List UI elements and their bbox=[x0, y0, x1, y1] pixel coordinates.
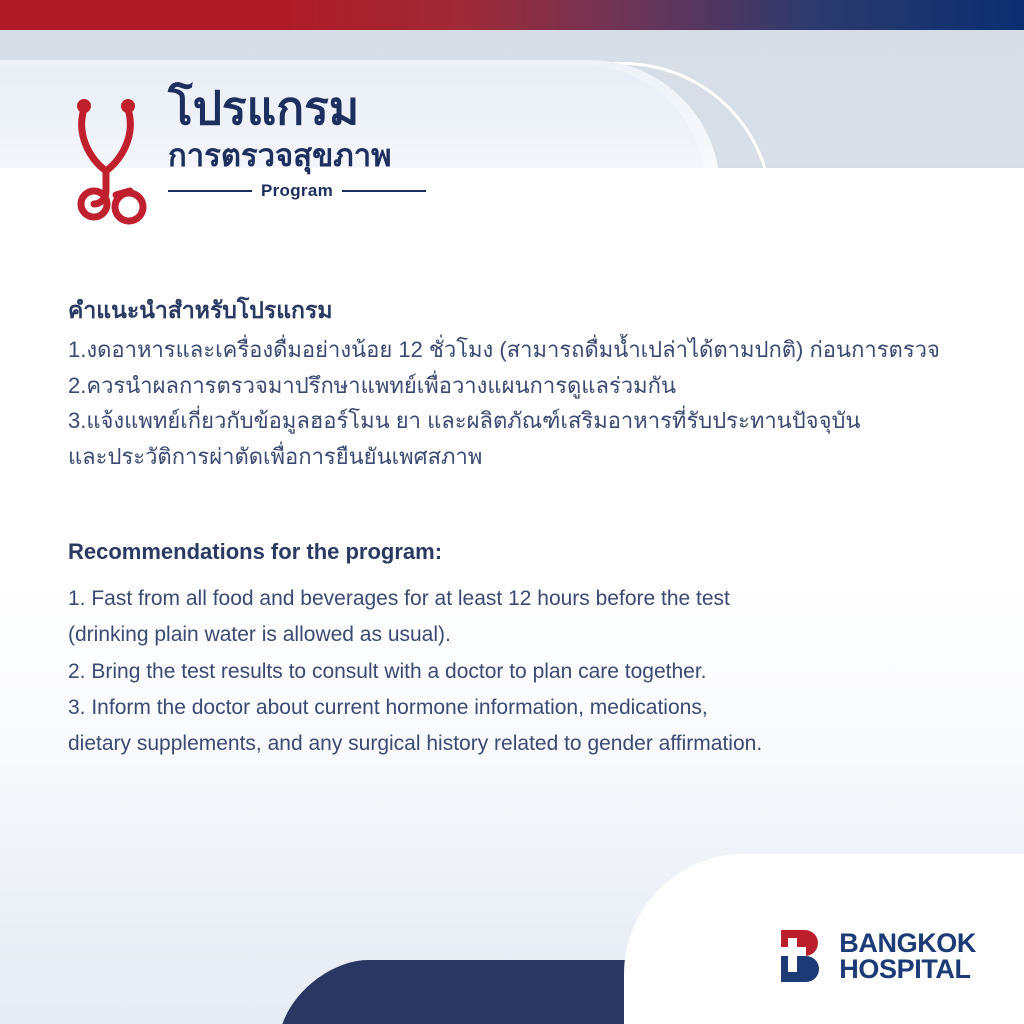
thai-line-4: และประวัติการผ่าตัดเพื่อการยืนยันเพศสภาพ bbox=[68, 439, 968, 475]
english-line-5: dietary supplements, and any surgical hi… bbox=[68, 726, 968, 762]
logo-program-row: Program bbox=[168, 181, 426, 201]
logo-rule-right bbox=[342, 190, 426, 192]
thai-line-1: 1.งดอาหารและเครื่องดื่มอย่างน้อย 12 ชั่ว… bbox=[68, 332, 968, 368]
thai-line-3: 3.แจ้งแพทย์เกี่ยวกับข้อมูลฮอร์โมน ยา และ… bbox=[68, 403, 968, 439]
english-line-4: 3. Inform the doctor about current hormo… bbox=[68, 690, 968, 726]
program-logo: โปรแกรม การตรวจสุขภาพ Program bbox=[70, 85, 410, 230]
logo-label-en: Program bbox=[261, 181, 333, 201]
program-logo-text: โปรแกรม การตรวจสุขภาพ Program bbox=[168, 85, 418, 201]
bangkok-hospital-b-cross-logo bbox=[775, 928, 827, 984]
english-heading: Recommendations for the program: bbox=[68, 537, 968, 568]
stethoscope-icon bbox=[70, 87, 156, 227]
logo-rule-left bbox=[168, 190, 252, 192]
poster-canvas: โปรแกรม การตรวจสุขภาพ Program คำแนะนำสำห… bbox=[0, 0, 1024, 1024]
brand-line-2: HOSPITAL bbox=[839, 956, 976, 982]
bangkok-hospital-logo: BANGKOK HOSPITAL bbox=[775, 928, 976, 984]
thai-line-2: 2.ควรนำผลการตรวจมาปรึกษาแพทย์เพื่อวางแผน… bbox=[68, 368, 968, 404]
english-line-2: (drinking plain water is allowed as usua… bbox=[68, 617, 968, 653]
top-gradient-bar bbox=[0, 0, 1024, 30]
logo-title-thai: โปรแกรม bbox=[168, 85, 418, 131]
english-section: Recommendations for the program: 1. Fast… bbox=[68, 537, 968, 762]
english-line-3: 2. Bring the test results to consult wit… bbox=[68, 654, 968, 690]
brand-line-1: BANGKOK bbox=[839, 930, 976, 956]
thai-heading: คำแนะนำสำหรับโปรแกรม bbox=[68, 295, 968, 326]
content-area: คำแนะนำสำหรับโปรแกรม 1.งดอาหารและเครื่อง… bbox=[68, 295, 968, 762]
english-line-1: 1. Fast from all food and beverages for … bbox=[68, 581, 968, 617]
bangkok-hospital-wordmark: BANGKOK HOSPITAL bbox=[839, 930, 976, 983]
logo-subtitle-thai: การตรวจสุขภาพ bbox=[168, 137, 418, 176]
